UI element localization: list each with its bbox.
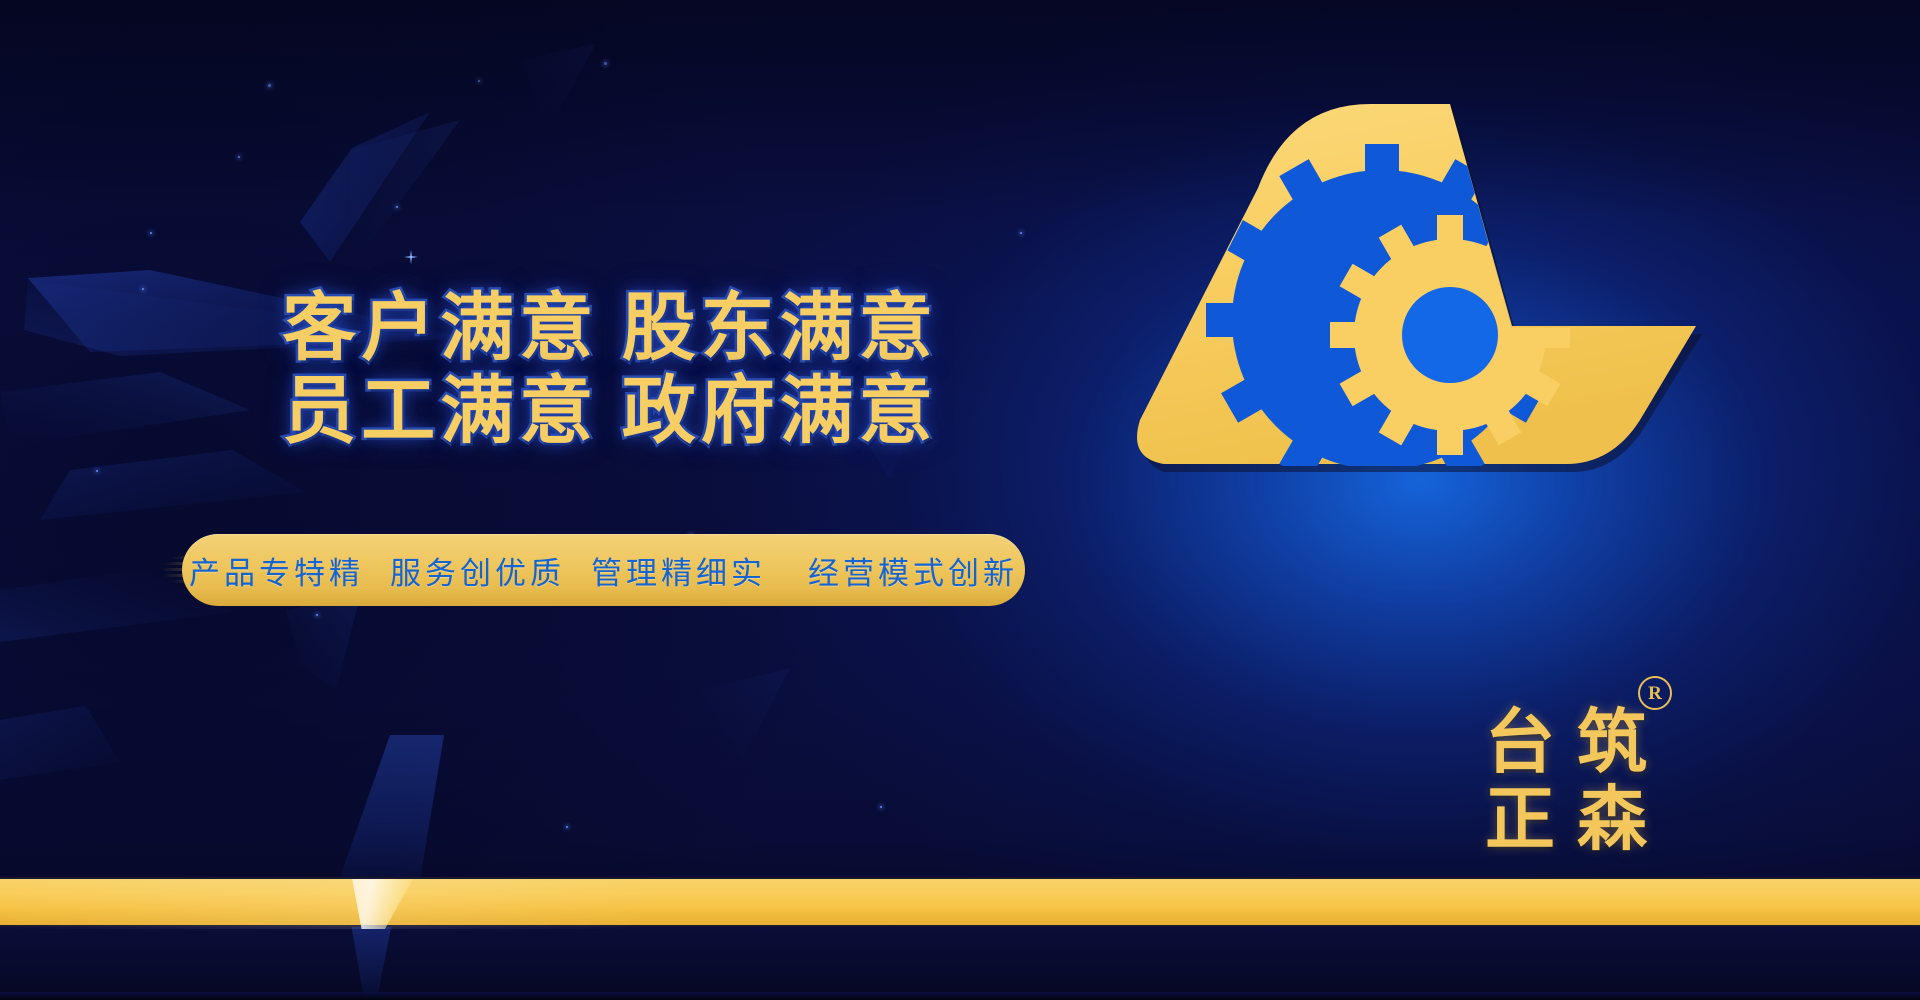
bottom-gold-bar	[0, 877, 1920, 927]
wordmark-char-1: 台	[1478, 706, 1562, 781]
bottom-edge-shadow	[0, 992, 1920, 1000]
subtitle-segment-3: 管理精细实	[587, 548, 770, 593]
subtitle-text: 产品专特精 服务创优质 管理精细实 经营模式创新	[182, 534, 1025, 606]
banner-canvas: 客户满意 股东满意 员工满意 政府满意 产品专特精 服务创优质 管理精细实 经营…	[0, 0, 1920, 1000]
gold-bar-sheen	[0, 879, 1920, 929]
wordmark-logo: 台 筑 正 森 R	[1478, 690, 1668, 860]
subtitle-segment-2: 服务创优质	[386, 548, 569, 593]
wordmark-characters: 台 筑 正 森	[1478, 706, 1654, 858]
headline-line-1: 客户满意 股东满意	[230, 288, 990, 371]
subtitle-banner: 产品专特精 服务创优质 管理精细实 经营模式创新	[160, 534, 1040, 606]
wordmark-char-3: 正	[1478, 783, 1562, 858]
headline-line-2: 员工满意 政府满意	[230, 371, 990, 454]
wordmark-char-4: 森	[1570, 783, 1654, 858]
subtitle-segment-4: 经营模式创新	[804, 548, 1022, 593]
wordmark-char-2: 筑	[1570, 706, 1654, 781]
registered-trademark-icon: R	[1638, 676, 1672, 710]
bottom-strip	[0, 927, 1920, 1000]
headline: 客户满意 股东满意 员工满意 政府满意	[230, 288, 990, 454]
subtitle-segment-1: 产品专特精	[185, 548, 368, 593]
gear-logo-icon	[1120, 90, 1710, 490]
